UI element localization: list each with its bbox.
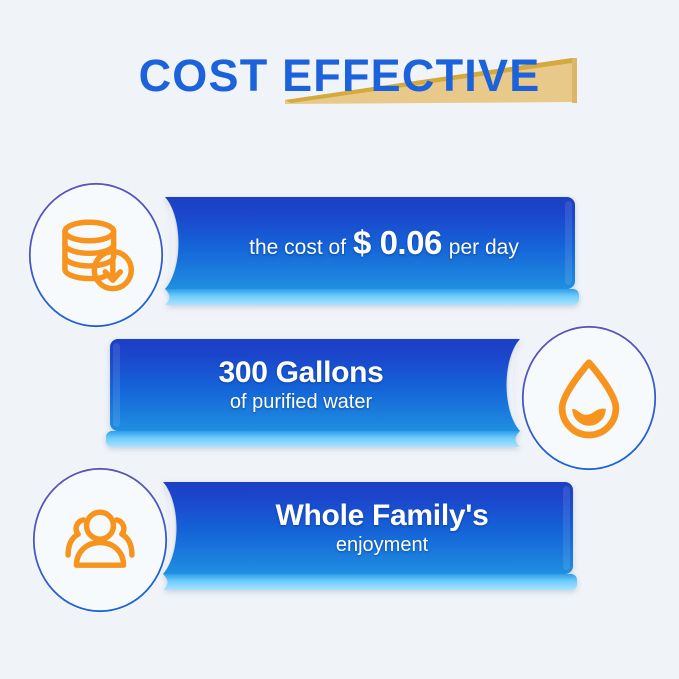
banner-cost-per-day: the cost of $ 0.06 per day (155, 197, 579, 307)
icon-badge-cost (28, 182, 164, 328)
page-title: COST EFFECTIVE (0, 46, 679, 106)
icon-badge-water (521, 325, 657, 471)
feature-row-gallons: 300 Gallons of purified water (0, 325, 679, 475)
banner-family: Whole Family's enjoyment (153, 482, 577, 592)
icon-badge-family (32, 467, 168, 613)
banner-gallons: 300 Gallons of purified water (106, 339, 530, 449)
feature-row-family: Whole Family's enjoyment (0, 462, 679, 612)
coin-stack-down-arrow-icon (54, 213, 138, 297)
water-drop-icon (547, 356, 631, 440)
feature-row-cost-per-day: the cost of $ 0.06 per day (0, 180, 679, 330)
people-group-icon (58, 498, 142, 582)
header: COST EFFECTIVE (0, 46, 679, 112)
